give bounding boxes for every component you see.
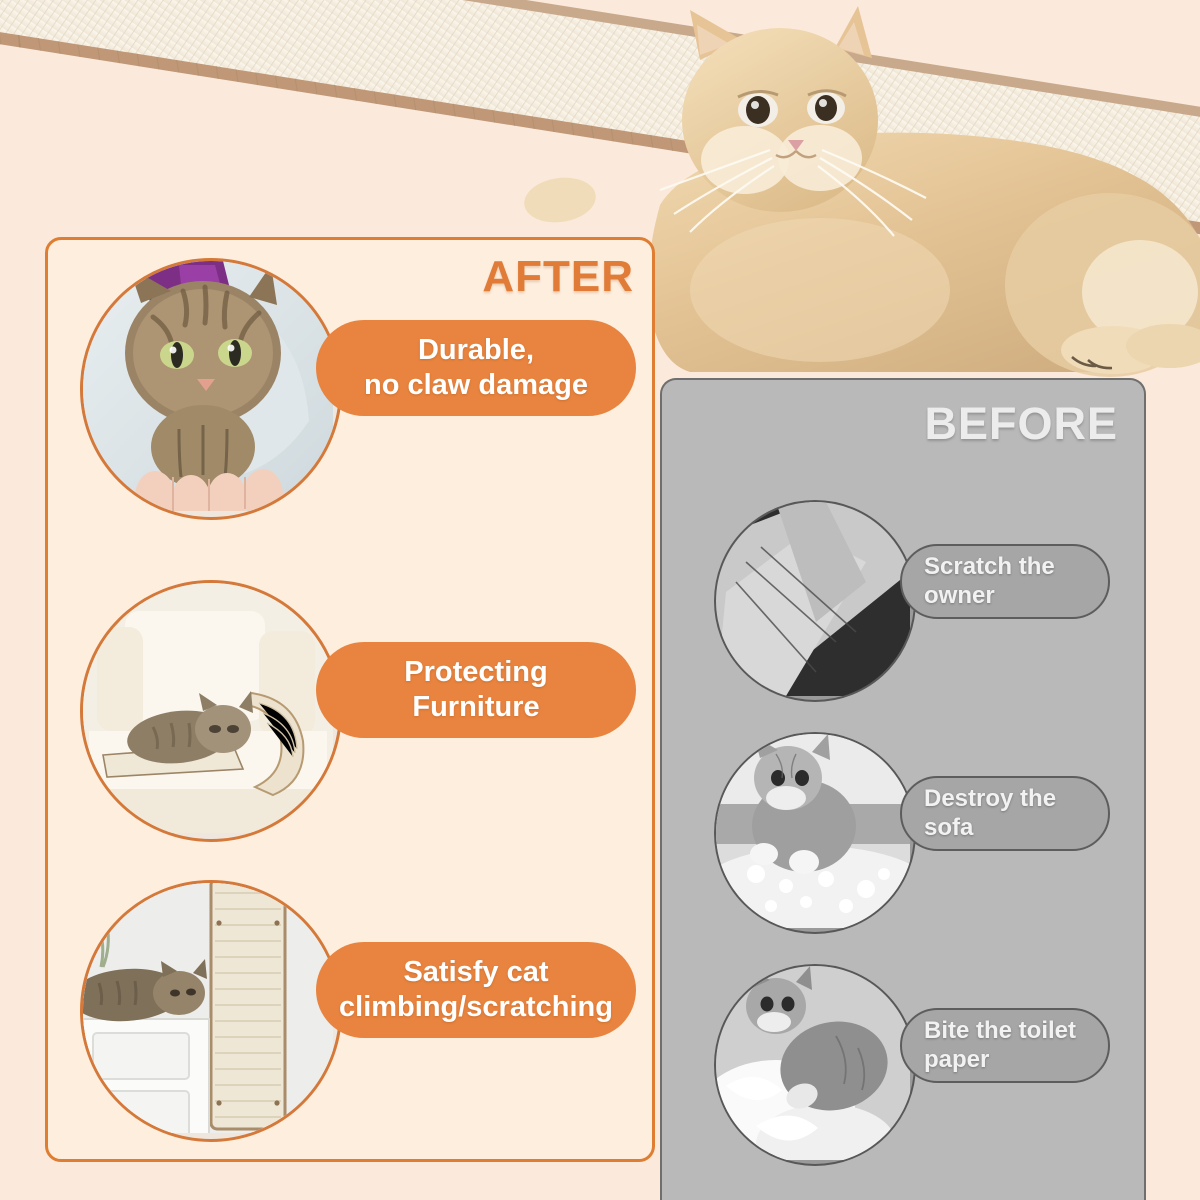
after-label-text: Durable,no claw damage: [364, 333, 588, 404]
cat-destroying-sofa-photo: [714, 732, 916, 934]
after-label-pill: ProtectingFurniture: [316, 642, 636, 738]
cat-paw-on-hand-photo: [80, 258, 342, 520]
after-label-text: Satisfy catclimbing/scratching: [339, 955, 613, 1026]
before-label-text: Scratch theowner: [924, 552, 1055, 611]
after-label-text: ProtectingFurniture: [404, 655, 547, 726]
after-label-pill: Durable,no claw damage: [316, 320, 636, 416]
cat-on-protected-sofa-photo: [80, 580, 342, 842]
before-label-text: Destroy thesofa: [924, 784, 1056, 843]
before-item-bite-the-toilet-paper: Bite the toiletpaper: [662, 964, 1146, 1172]
before-label-pill: Bite the toiletpaper: [900, 1008, 1110, 1083]
after-label-pill: Satisfy catclimbing/scratching: [316, 942, 636, 1038]
after-panel: AFTER: [45, 237, 655, 1162]
cat-shredding-toilet-paper-photo: [714, 964, 916, 1166]
before-item-destroy-the-sofa: Destroy thesofa: [662, 732, 1146, 940]
cat-with-wall-scratcher-photo: [80, 880, 342, 1142]
after-item-protecting-furniture: ProtectingFurniture: [48, 580, 658, 840]
infographic-canvas: BEFORE Scratch theowner: [0, 0, 1200, 1200]
after-item-satisfy-cat-climbing-scratching: Satisfy catclimbing/scratching: [48, 880, 658, 1140]
before-panel: BEFORE Scratch theowner: [660, 378, 1146, 1200]
before-title: BEFORE: [924, 398, 1118, 450]
before-label-pill: Scratch theowner: [900, 544, 1110, 619]
before-label-text: Bite the toiletpaper: [924, 1016, 1076, 1075]
after-item-durable-no-claw-damage: Durable,no claw damage: [48, 258, 658, 518]
before-label-pill: Destroy thesofa: [900, 776, 1110, 851]
scratched-arm-photo: [714, 500, 916, 702]
before-item-scratch-the-owner: Scratch theowner: [662, 500, 1146, 708]
